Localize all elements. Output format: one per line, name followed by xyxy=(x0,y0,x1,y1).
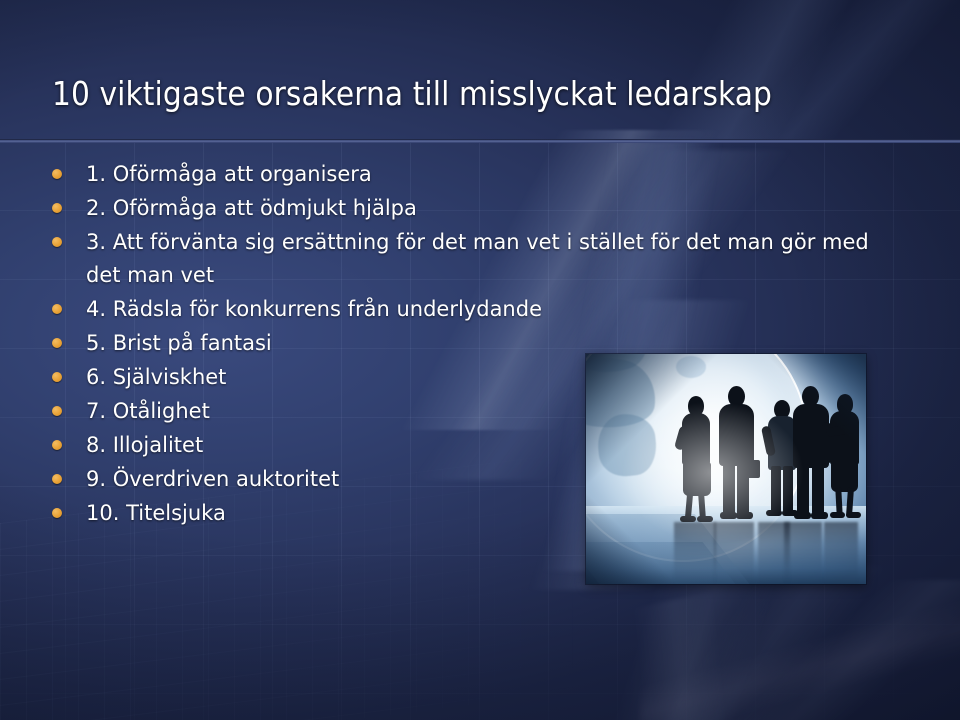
bullet-icon xyxy=(52,169,62,179)
bullet-icon xyxy=(52,203,62,213)
bullet-icon xyxy=(52,237,62,247)
bullet-icon xyxy=(52,508,62,518)
bullet-icon xyxy=(52,304,62,314)
header-divider-line xyxy=(0,139,960,143)
photo-corner-shading xyxy=(586,354,866,584)
list-item-label: 1. Oförmåga att organisera xyxy=(86,158,899,191)
list-item-label: 4. Rädsla för konkurrens från underlydan… xyxy=(86,293,899,326)
list-item: 1. Oförmåga att organisera xyxy=(44,158,899,191)
list-item-label: 3. Att förvänta sig ersättning för det m… xyxy=(86,226,899,292)
bullet-icon xyxy=(52,338,62,348)
bullet-icon xyxy=(52,440,62,450)
bullet-icon xyxy=(52,474,62,484)
business-people-globe-photo xyxy=(586,354,866,584)
list-item-label: 2. Oförmåga att ödmjukt hjälpa xyxy=(86,192,899,225)
slide-title: 10 viktigaste orsakerna till misslyckat … xyxy=(52,74,932,114)
bullet-icon xyxy=(52,406,62,416)
presentation-slide: 10 viktigaste orsakerna till misslyckat … xyxy=(0,0,960,720)
list-item: 3. Att förvänta sig ersättning för det m… xyxy=(44,226,899,292)
list-item: 2. Oförmåga att ödmjukt hjälpa xyxy=(44,192,899,225)
list-item: 4. Rädsla för konkurrens från underlydan… xyxy=(44,293,899,326)
bullet-icon xyxy=(52,372,62,382)
